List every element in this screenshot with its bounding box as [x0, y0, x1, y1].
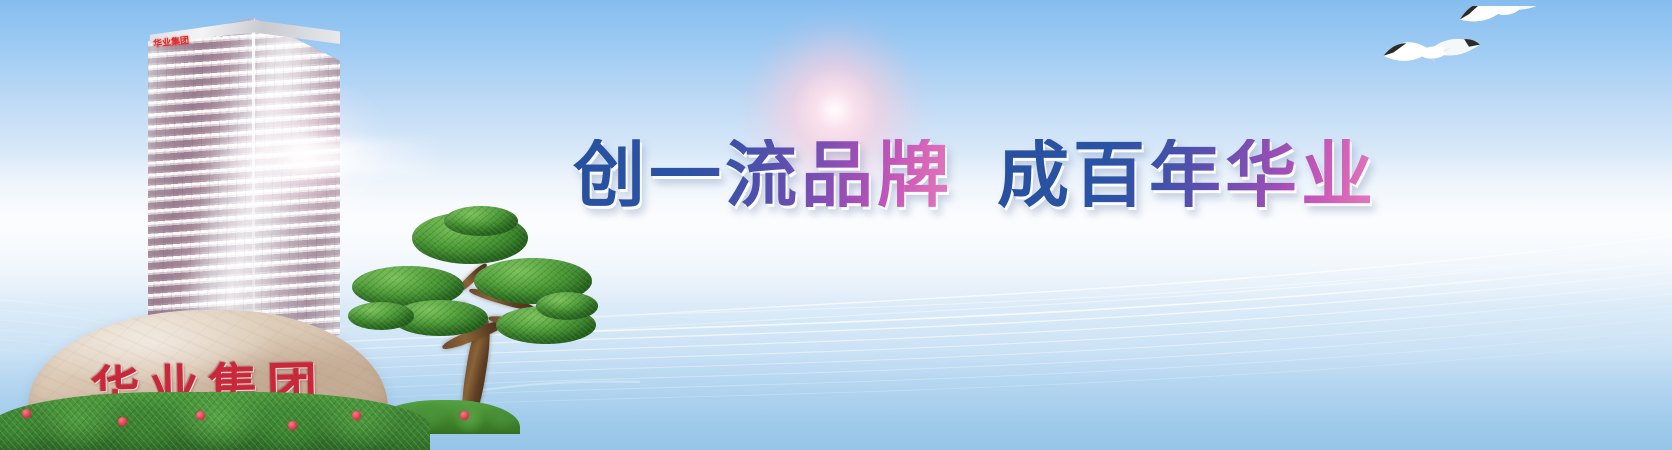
- flower-icon: [22, 409, 31, 418]
- seagull-group: [1372, 6, 1572, 116]
- flower-icon: [196, 411, 205, 420]
- office-tower-building: 华业集团: [140, 18, 340, 348]
- building-corner-edge: [252, 18, 255, 348]
- seagull-icon: [1382, 35, 1481, 70]
- tree-canopy: [536, 292, 598, 320]
- seagull-icon: [1457, 6, 1557, 26]
- company-banner: 华业集团 华: [0, 0, 1672, 450]
- green-hedge: [0, 392, 430, 450]
- tree-canopy: [444, 206, 518, 236]
- flower-icon: [352, 411, 361, 420]
- flower-icon: [288, 421, 297, 430]
- flower-icon: [460, 411, 469, 420]
- building-sheen: [140, 18, 340, 348]
- flower-icon: [118, 417, 127, 426]
- hedge-texture: [0, 392, 430, 450]
- scene-group: 华业集团 华: [0, 0, 620, 450]
